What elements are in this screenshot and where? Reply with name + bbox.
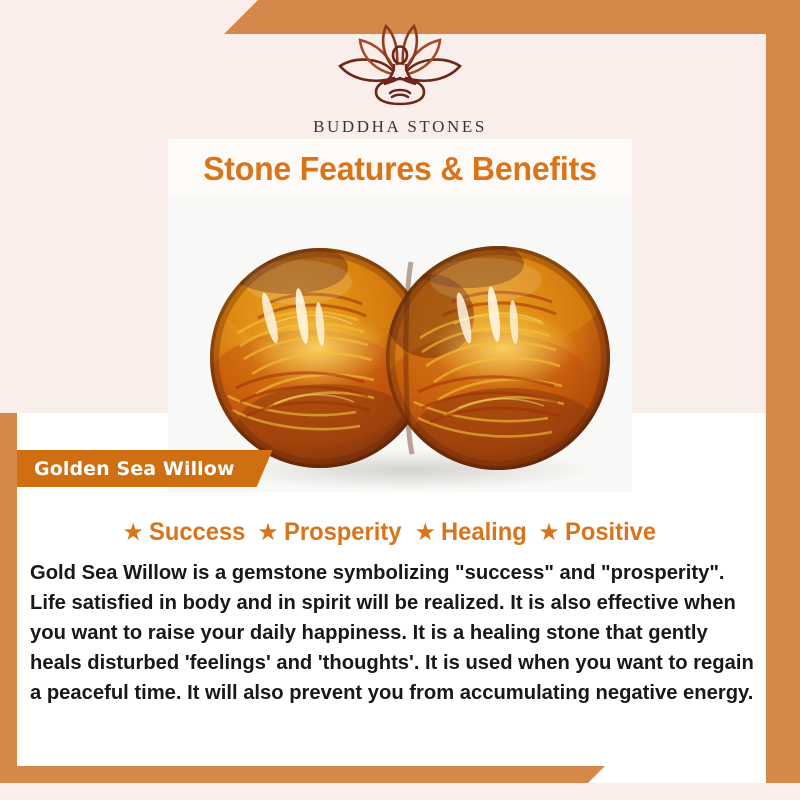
product-name-badge: Golden Sea Willow: [17, 450, 273, 487]
benefit-label: Prosperity: [284, 518, 401, 547]
poster-root: BUDDHA STONES Stone Features & Benefits: [0, 0, 800, 800]
benefit-item: ★ Prosperity: [257, 518, 407, 547]
star-icon: ★: [122, 521, 144, 545]
page-title: Stone Features & Benefits: [203, 150, 597, 188]
frame-bottom-strip: [0, 783, 800, 800]
benefit-item: ★ Success: [122, 518, 250, 547]
star-icon: ★: [538, 521, 560, 545]
brand-logo: BUDDHA STONES: [0, 22, 800, 137]
benefit-item: ★ Positive: [538, 518, 660, 547]
benefit-label: Success: [149, 518, 245, 547]
star-icon: ★: [414, 521, 436, 545]
star-icon: ★: [257, 521, 279, 545]
product-photo: [168, 198, 632, 492]
frame-band-left: [0, 413, 17, 783]
description-text: Gold Sea Willow is a gemstone symbolizin…: [30, 558, 759, 708]
benefit-label: Healing: [441, 518, 527, 547]
brand-name: BUDDHA STONES: [0, 117, 800, 137]
frame-band-bottom: [0, 766, 605, 783]
title-banner: Stone Features & Benefits: [168, 139, 632, 198]
benefits-row: ★ Success ★ Prosperity ★ Healing ★ Posit…: [17, 518, 766, 547]
benefit-item: ★ Healing: [414, 518, 531, 547]
product-name-label: Golden Sea Willow: [34, 458, 235, 480]
benefit-label: Positive: [565, 518, 656, 547]
lotus-meditation-icon: [0, 22, 800, 114]
